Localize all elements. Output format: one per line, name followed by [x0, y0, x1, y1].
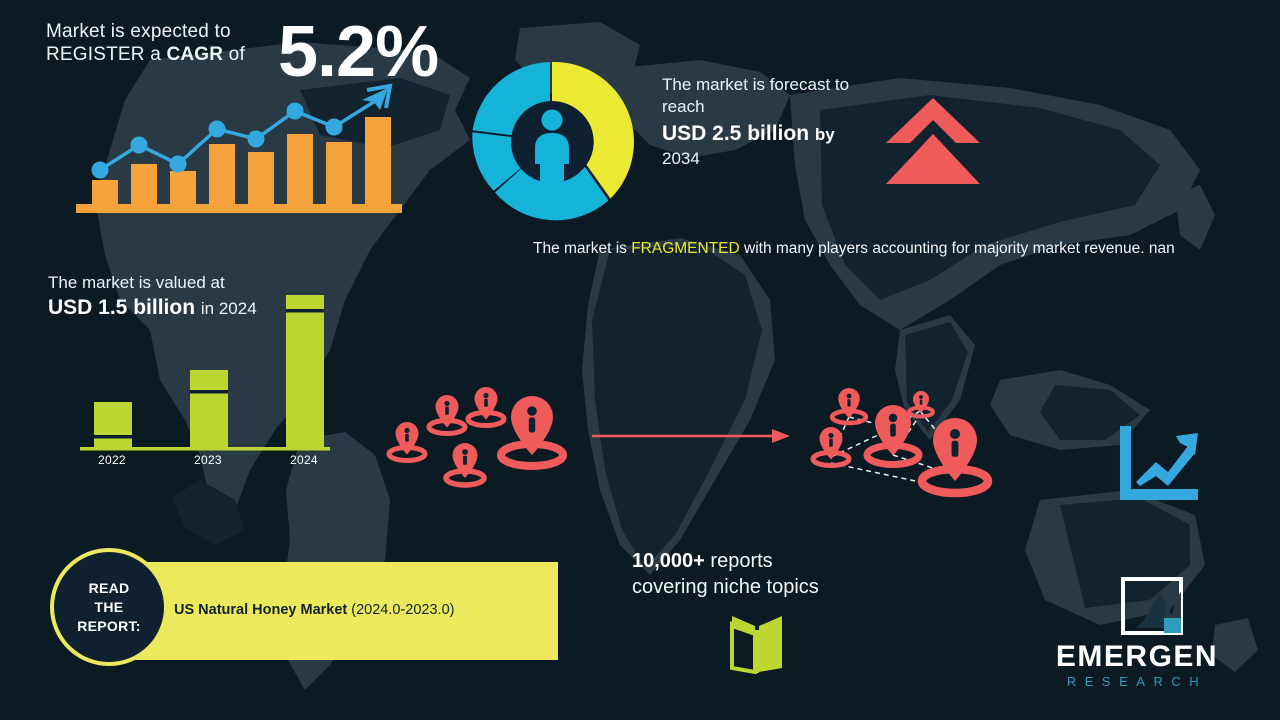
infographic-canvas: Market is expected to REGISTER a CAGR of…	[0, 0, 1280, 720]
reports-count-block: 10,000+ reports covering niche topics	[632, 548, 819, 600]
forecast-lead: The market is forecast to reach	[662, 74, 892, 118]
fragmentation-text: The market is FRAGMENTED with many playe…	[533, 238, 1211, 260]
fragmentation-highlight: FRAGMENTED	[631, 240, 740, 257]
valuation-value: USD 1.5 billion	[48, 296, 195, 319]
open-book-icon	[722, 612, 792, 679]
logo-name: EMERGEN	[1022, 640, 1252, 674]
red-double-up-arrow-icon	[884, 96, 982, 191]
map-pin-cluster-left	[380, 385, 580, 500]
orange-bar-chart-icon	[62, 80, 412, 230]
cagr-caption-line1: Market is expected to	[46, 20, 245, 43]
forecast-value-line: USD 2.5 billion by	[662, 120, 892, 148]
logo-subtitle: RESEARCH	[1022, 674, 1252, 689]
map-pin-network-right	[800, 385, 1010, 505]
valuation-block: The market is valued at USD 1.5 billion …	[48, 272, 257, 323]
cagr-caption: Market is expected to REGISTER a CAGR of	[46, 20, 245, 66]
forecast-year: 2034	[662, 148, 892, 170]
cagr-value: 5.2%	[278, 16, 438, 88]
bar-label-2022: 2022	[98, 453, 126, 467]
donut-chart-person-icon	[462, 52, 642, 237]
report-title: US Natural Honey Market (2024.0-2023.0)	[174, 602, 454, 618]
reports-count-line2: covering niche topics	[632, 574, 819, 600]
cagr-keyword: CAGR	[166, 44, 223, 65]
reports-count-number: 10,000+	[632, 550, 705, 572]
report-banner[interactable]: US Natural Honey Market (2024.0-2023.0)	[100, 562, 558, 660]
report-title-range: (2024.0-2023.0)	[351, 602, 454, 618]
cagr-caption-line2: REGISTER a CAGR of	[46, 43, 245, 66]
red-flow-arrow-icon	[592, 428, 792, 449]
logo-mark-icon	[1120, 576, 1184, 641]
forecast-block: The market is forecast to reach USD 2.5 …	[662, 74, 892, 170]
valuation-lead: The market is valued at	[48, 272, 257, 294]
valuation-value-line: USD 1.5 billion in 2024	[48, 294, 257, 323]
cagr-block: Market is expected to REGISTER a CAGR of…	[46, 20, 245, 66]
read-the-report-button[interactable]: READ THE REPORT:	[50, 548, 168, 666]
bar-label-2023: 2023	[194, 453, 222, 467]
valuation-suffix: in 2024	[201, 299, 257, 318]
forecast-value: USD 2.5 billion	[662, 122, 809, 145]
reports-count-line1: 10,000+ reports	[632, 548, 819, 574]
bar-label-2024: 2024	[290, 453, 318, 467]
forecast-by: by	[815, 125, 835, 144]
blue-growth-chart-icon	[1118, 424, 1202, 515]
read-the-report-label: READ THE REPORT:	[77, 579, 141, 636]
fragmentation-statement: The market is FRAGMENTED with many playe…	[533, 238, 1211, 260]
